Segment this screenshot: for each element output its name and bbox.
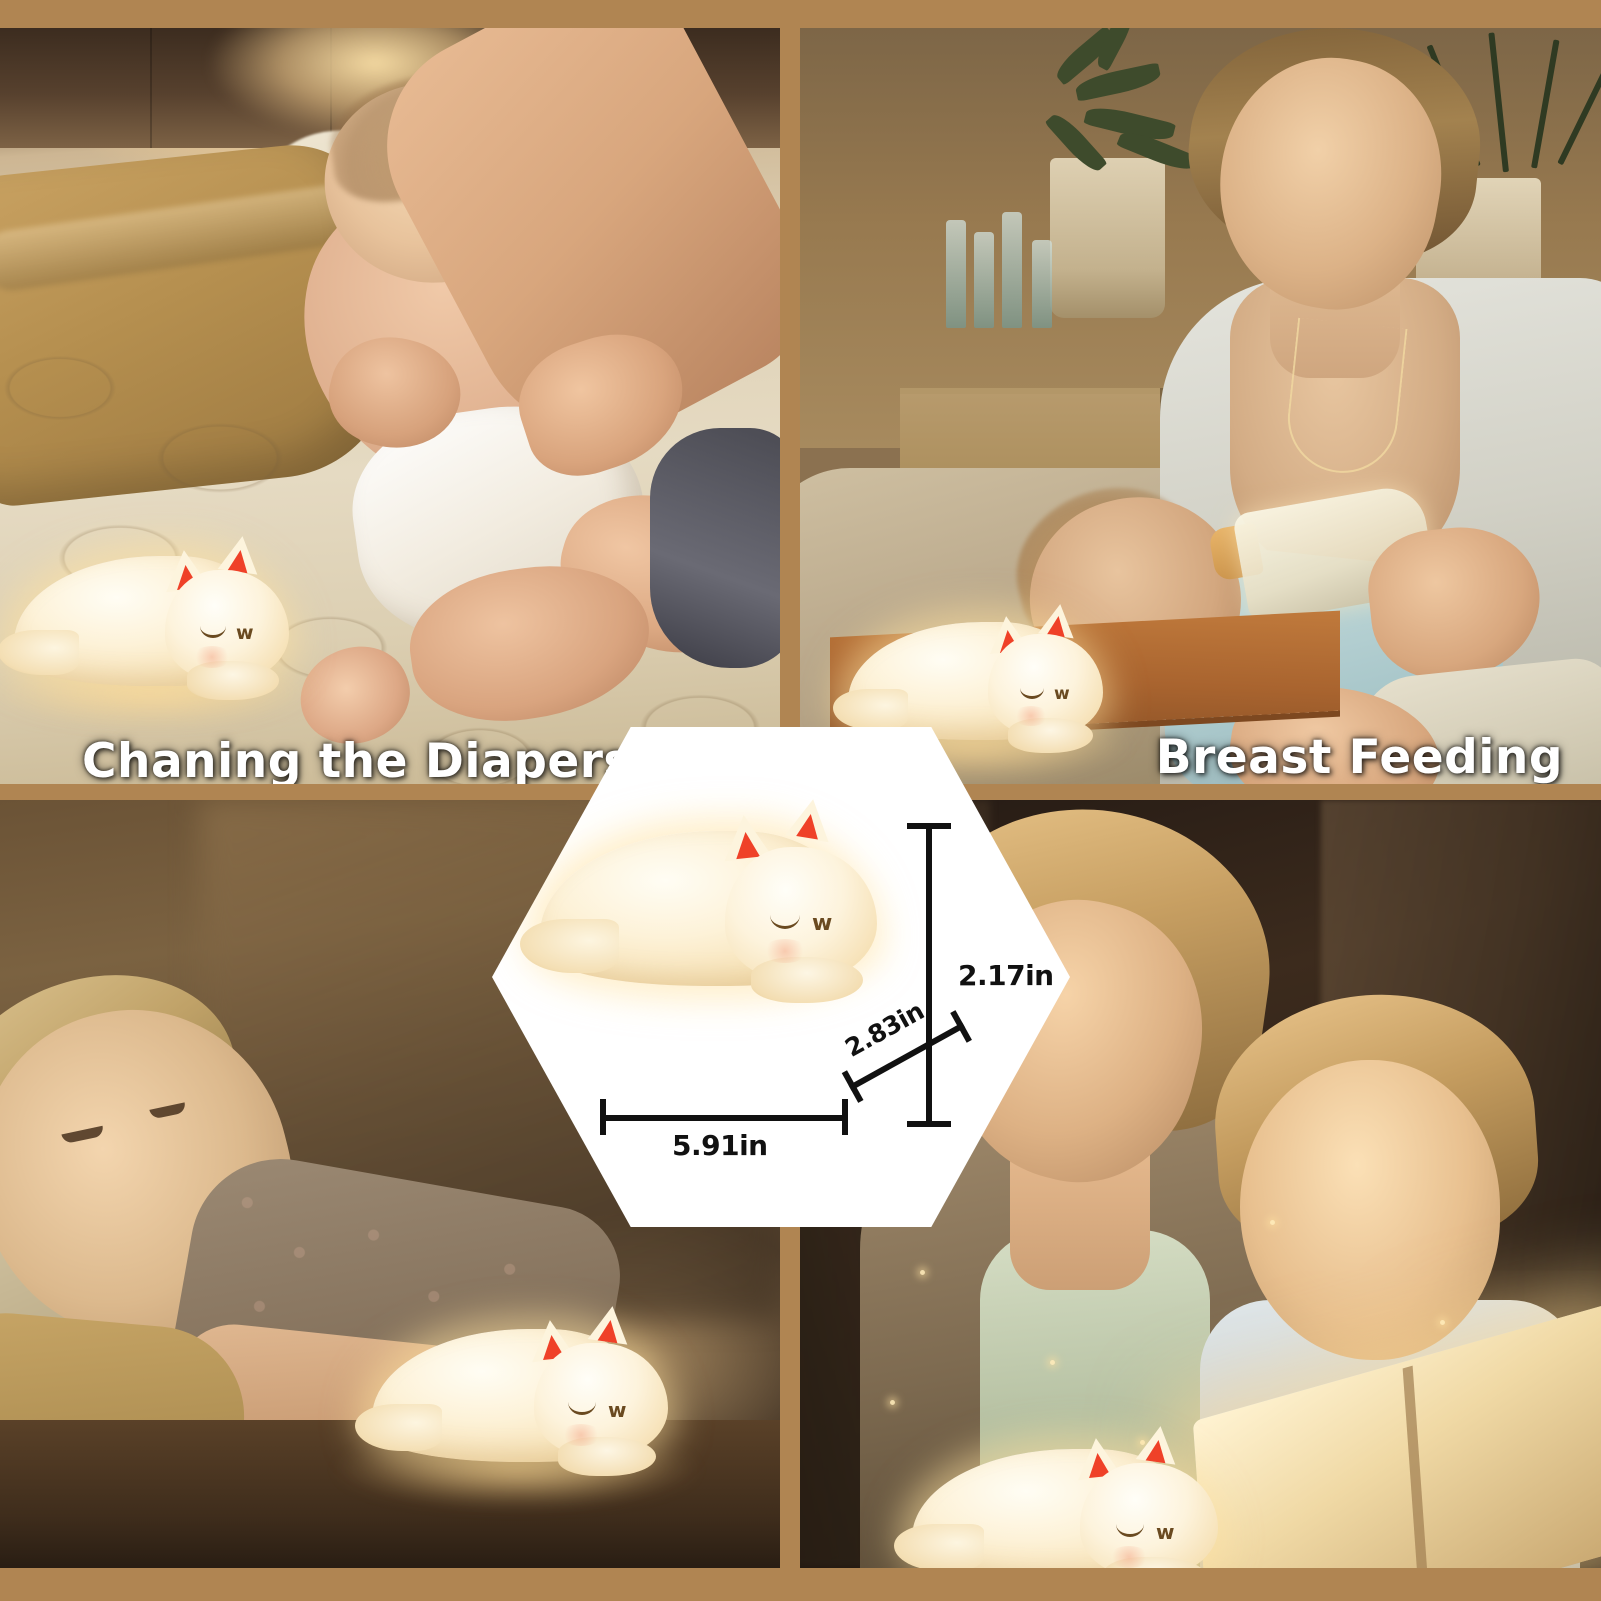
height-dimension-cap-top	[907, 823, 951, 829]
caption-breast-feeding: Breast Feeding	[1156, 731, 1563, 784]
photo-changing-diapers: w	[0, 28, 780, 784]
cat-night-light-icon: w	[912, 1420, 1212, 1568]
child-head	[1240, 1060, 1500, 1360]
frame-bottom-border	[0, 1568, 1601, 1601]
glass-bottles	[940, 208, 1090, 328]
adult-knee	[650, 428, 780, 668]
height-dimension-cap-bottom	[907, 1121, 951, 1127]
width-dimension-line	[602, 1115, 848, 1121]
depth-dimension-cap-left	[842, 1070, 864, 1103]
product-collage: w Chaning the Diapers	[0, 0, 1601, 1601]
width-dimension-label: 5.91in	[672, 1129, 768, 1162]
height-dimension-label: 2.17in	[958, 959, 1054, 992]
photo-breast-feeding: w	[800, 28, 1601, 784]
cat-night-light-icon: w	[14, 528, 284, 703]
depth-dimension-group: 2.83in	[839, 1005, 975, 1108]
caption-changing-diapers: Chaning the Diapers	[82, 735, 632, 784]
width-dimension-cap-right	[842, 1099, 848, 1135]
cat-night-light-product-icon: w	[540, 797, 870, 1007]
panel-breast-feeding: w Breast Feeding	[800, 28, 1601, 784]
frame-top-border	[0, 0, 1601, 28]
panel-changing-diapers: w Chaning the Diapers	[0, 28, 780, 784]
width-dimension-cap-left	[600, 1099, 606, 1135]
cat-night-light-icon: w	[372, 1300, 662, 1480]
height-dimension-line	[926, 825, 932, 1127]
